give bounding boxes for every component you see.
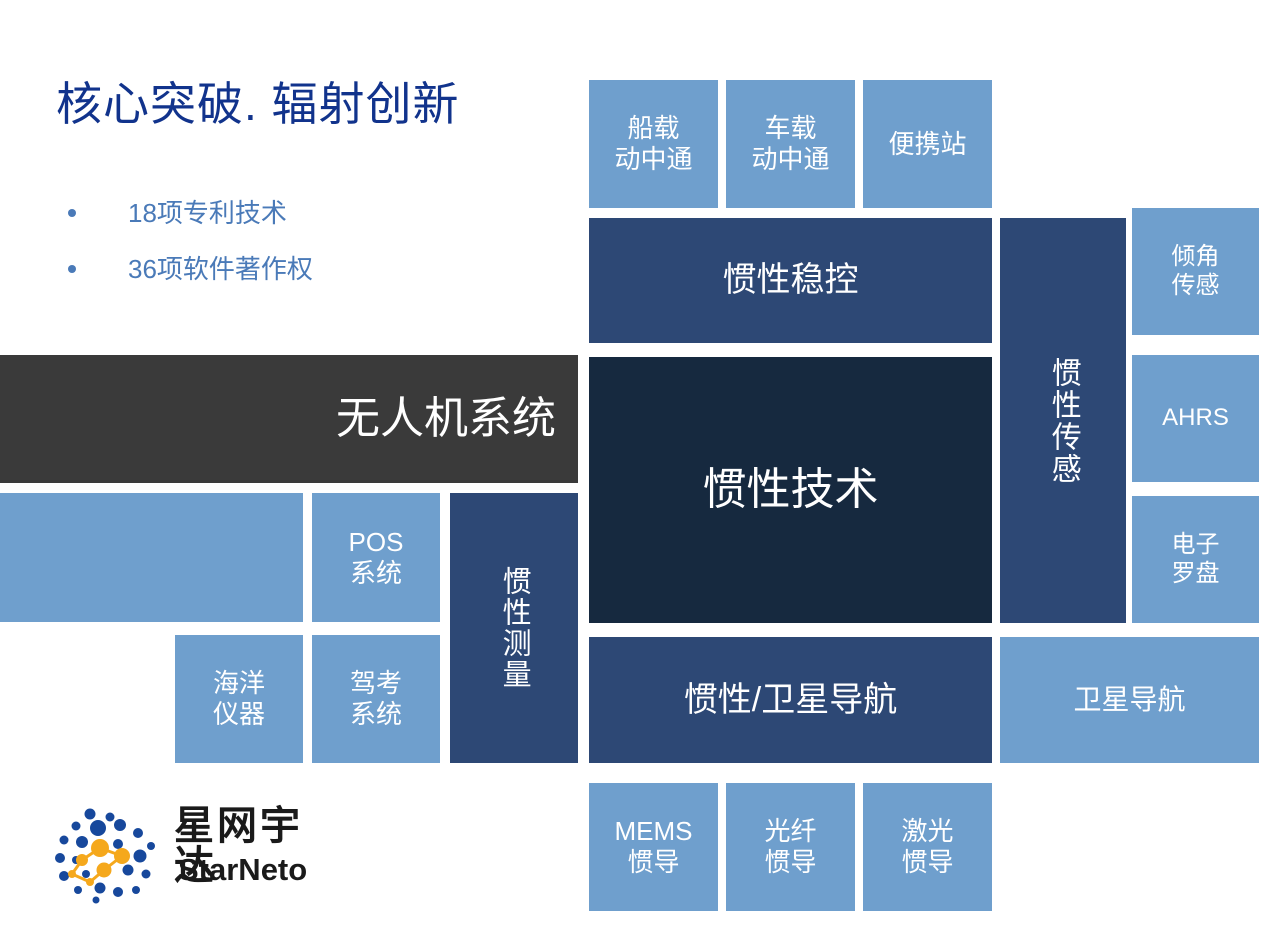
- block-laser-ins[interactable]: 激光惯导: [863, 783, 992, 911]
- block-label: 卫星导航: [1073, 683, 1185, 716]
- block-shipborne-satcom[interactable]: 船载动中通: [589, 80, 718, 208]
- list-item: 36项软件著作权: [60, 241, 580, 297]
- bullet-dot-icon: [68, 209, 76, 217]
- block-label: 惯性测量: [497, 566, 531, 690]
- logo-english-name: StarNeto: [178, 854, 307, 885]
- block-label: 便携站: [888, 129, 966, 160]
- block-inertial-stabilization[interactable]: 惯性稳控: [589, 218, 992, 343]
- block-label: 车载动中通: [751, 113, 829, 174]
- block-pos-system[interactable]: POS系统: [312, 493, 440, 622]
- page-title: 核心突破. 辐射创新: [56, 78, 576, 131]
- list-item: 18项专利技术: [60, 185, 580, 241]
- block-fiber-optic-ins[interactable]: 光纤惯导: [726, 783, 855, 911]
- block-ahrs[interactable]: AHRS: [1132, 355, 1259, 482]
- block-label: 倾角传感: [1172, 243, 1220, 300]
- block-label: 电子罗盘: [1172, 531, 1220, 588]
- block-blank[interactable]: [0, 493, 303, 622]
- block-label: 惯性/卫星导航: [684, 680, 897, 720]
- block-label: 海洋仪器: [213, 668, 265, 729]
- block-uav-system[interactable]: 无人机系统: [0, 355, 578, 483]
- block-label: 惯性技术: [703, 464, 879, 516]
- bullet-list: 18项专利技术 36项软件著作权: [60, 185, 580, 297]
- block-label: 船载动中通: [614, 113, 692, 174]
- block-label: 惯性稳控: [723, 260, 859, 300]
- bullet-text: 18项专利技术: [128, 200, 287, 226]
- block-driving-test-system[interactable]: 驾考系统: [312, 635, 440, 763]
- block-inertial-satellite-navigation[interactable]: 惯性/卫星导航: [589, 637, 992, 763]
- block-label: POS系统: [349, 527, 404, 588]
- block-vehicle-satcom[interactable]: 车载动中通: [726, 80, 855, 208]
- company-logo: 星网宇达 StarNeto: [52, 800, 332, 910]
- block-label: 惯性传感: [1045, 357, 1080, 485]
- block-marine-instrument[interactable]: 海洋仪器: [175, 635, 303, 763]
- block-inertial-sensing[interactable]: 惯性传感: [1000, 218, 1126, 623]
- block-label: MEMS惯导: [615, 816, 693, 877]
- slide-canvas: 核心突破. 辐射创新 18项专利技术 36项软件著作权 船载动中通 车载动中通 …: [0, 0, 1269, 952]
- block-label: 光纤惯导: [764, 816, 816, 877]
- block-mems-ins[interactable]: MEMS惯导: [589, 783, 718, 911]
- block-label: 驾考系统: [350, 668, 402, 729]
- bullet-dot-icon: [68, 265, 76, 273]
- starneto-dot-network-icon: [52, 804, 160, 904]
- block-label: 激光惯导: [901, 816, 953, 877]
- block-label: 无人机系统: [336, 393, 556, 445]
- block-label: AHRS: [1162, 404, 1229, 432]
- block-inertial-measurement[interactable]: 惯性测量: [450, 493, 578, 763]
- bullet-text: 36项软件著作权: [128, 256, 313, 282]
- block-satellite-navigation[interactable]: 卫星导航: [1000, 637, 1259, 763]
- block-tilt-sensor[interactable]: 倾角传感: [1132, 208, 1259, 335]
- block-portable-station[interactable]: 便携站: [863, 80, 992, 208]
- block-electronic-compass[interactable]: 电子罗盘: [1132, 496, 1259, 623]
- block-inertial-technology[interactable]: 惯性技术: [589, 357, 992, 623]
